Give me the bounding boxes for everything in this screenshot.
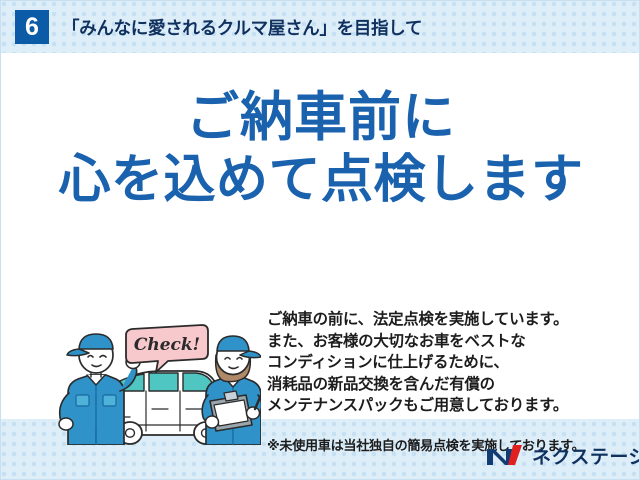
speech-bubble-label: Check! <box>134 335 200 355</box>
headline-line-1: ご納車前に <box>1 87 640 150</box>
header-bar: 6 「みんなに愛されるクルマ屋さん」を目指して <box>1 1 640 53</box>
body-line-5: メンテナンスパックもご用意しております。 <box>267 395 627 417</box>
page-title: ご納車前に 心を込めて点検します <box>1 87 640 211</box>
body-line-3: コンディションに仕上げるために、 <box>267 352 627 374</box>
body-copy: ご納車の前に、法定点検を実施しています。 また、お客様の大切なお車をベストな コ… <box>267 309 627 417</box>
header-title: 「みんなに愛されるクルマ屋さん」を目指して <box>62 15 422 40</box>
brand-name: ネクステージ <box>532 442 640 469</box>
female-mechanic <box>202 336 261 445</box>
body-line-4: 消耗品の新品交換を含んだ有償の <box>267 374 627 396</box>
mechanics-illustration: Check! <box>56 321 261 445</box>
nexstage-n-icon <box>485 442 525 468</box>
section-number-badge: 6 <box>15 10 49 44</box>
headline-line-2: 心を込めて点検します <box>1 150 640 211</box>
body-line-2: また、お客様の大切なお車をベストな <box>267 331 627 353</box>
promo-page: 6 「みんなに愛されるクルマ屋さん」を目指して ご納車前に 心を込めて点検します… <box>0 0 640 480</box>
body-line-1: ご納車の前に、法定点検を実施しています。 <box>267 309 627 331</box>
brand-logo: ネクステージ <box>485 439 625 471</box>
content-card: ご納車前に 心を込めて点検します ご納車の前に、法定点検を実施しています。 また… <box>1 53 640 419</box>
